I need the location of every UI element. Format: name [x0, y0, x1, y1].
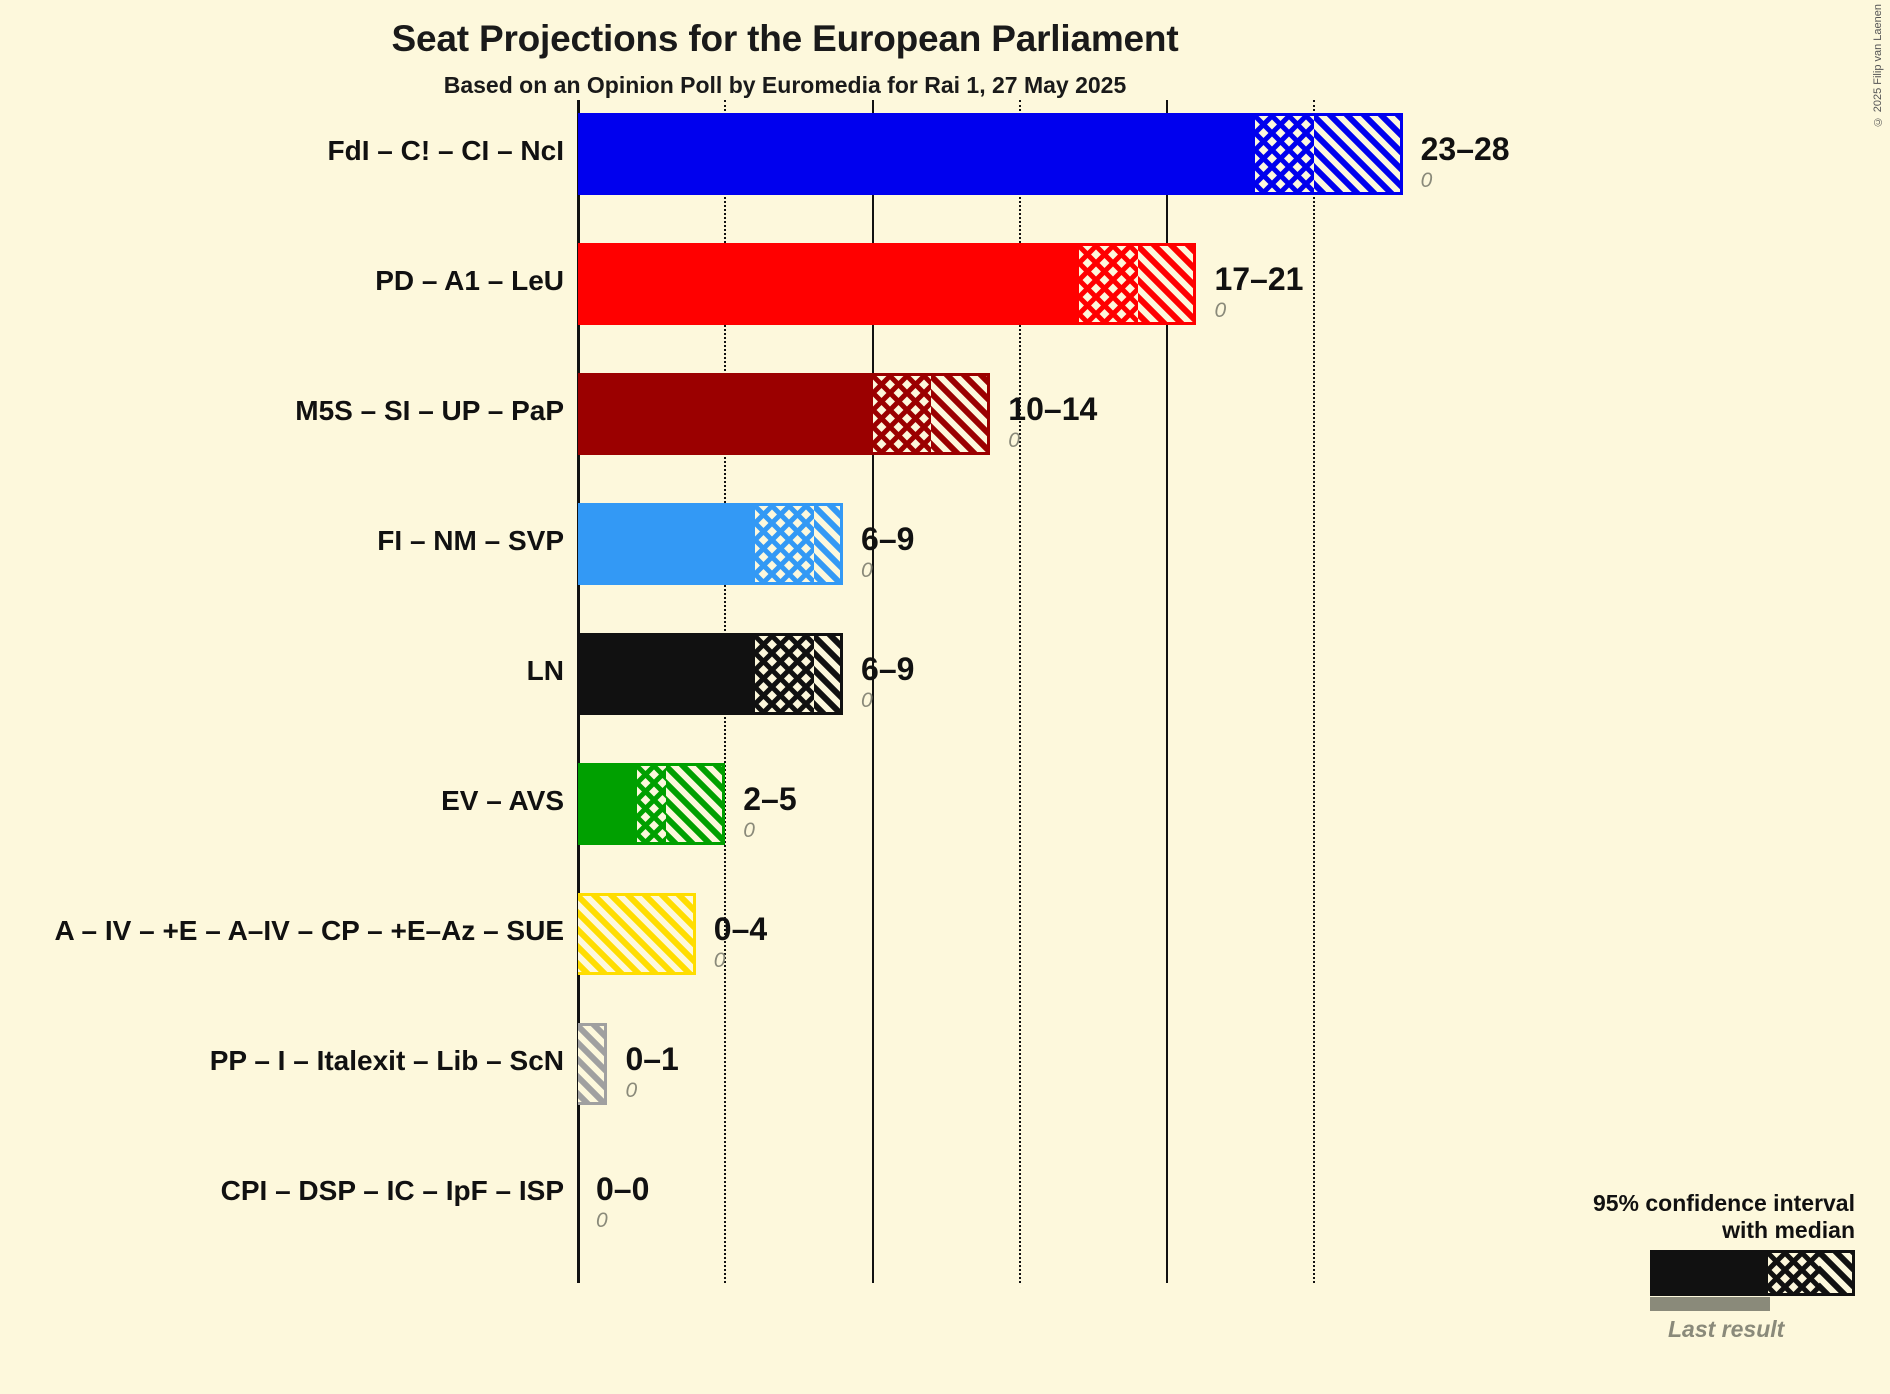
bar-value: 0–4 [714, 913, 767, 945]
bar-segment-median [637, 763, 666, 845]
gridline-25 [1313, 100, 1315, 1283]
bar-last-result: 0 [1421, 170, 1510, 191]
bar-value-group: 6–90 [861, 653, 914, 711]
bar-value-group: 0–00 [596, 1173, 649, 1231]
bar-last-result: 0 [1008, 430, 1097, 451]
bar-segment-median [755, 503, 814, 585]
bar-segment-lower [578, 633, 755, 715]
bar-label: FI – NM – SVP [377, 525, 564, 557]
bar [578, 113, 1403, 195]
bar [578, 763, 725, 845]
bar-segment-lower [578, 503, 755, 585]
bar-label: PP – I – Italexit – Lib – ScN [210, 1045, 564, 1077]
bar-value: 17–21 [1214, 263, 1303, 295]
bar-label: CPI – DSP – IC – IpF – ISP [221, 1175, 564, 1207]
bar-value: 0–0 [596, 1173, 649, 1205]
bar-value-group: 0–10 [625, 1043, 678, 1101]
bar-segment-upper [666, 763, 725, 845]
bar [578, 373, 990, 455]
chart-canvas: Seat Projections for the European Parlia… [0, 0, 1890, 1394]
bar-label: FdI – C! – CI – NcI [328, 135, 565, 167]
bar-value-group: 2–50 [743, 783, 796, 841]
bar-value: 6–9 [861, 523, 914, 555]
bar-last-result: 0 [596, 1210, 649, 1231]
bar-value-group: 0–40 [714, 913, 767, 971]
bar-last-result: 0 [861, 560, 914, 581]
bar-segment-upper [1138, 243, 1197, 325]
bar-label: M5S – SI – UP – PaP [295, 395, 564, 427]
bar-value-group: 10–140 [1008, 393, 1097, 451]
bar-last-result: 0 [714, 950, 767, 971]
bar-value-group: 17–210 [1214, 263, 1303, 321]
plot-area: FdI – C! – CI – NcI23–280PD – A1 – LeU17… [0, 0, 1890, 1394]
bar-label: PD – A1 – LeU [375, 265, 564, 297]
bar-last-result: 0 [743, 820, 796, 841]
bar-value: 10–14 [1008, 393, 1097, 425]
bar-value-group: 23–280 [1421, 133, 1510, 191]
bar [578, 243, 1196, 325]
bar-segment-lower [578, 373, 873, 455]
bar-segment-upper [814, 633, 843, 715]
bar-segment-median [873, 373, 932, 455]
bar-label: A – IV – +E – A–IV – CP – +E–Az – SUE [55, 915, 564, 947]
bar-label: LN [527, 655, 564, 687]
bar-segment-median [1255, 113, 1314, 195]
bar-segment-upper [1314, 113, 1402, 195]
bar-value: 2–5 [743, 783, 796, 815]
bar-value-group: 6–90 [861, 523, 914, 581]
bar-label: EV – AVS [441, 785, 564, 817]
bar-segment-upper [578, 893, 696, 975]
bar [578, 503, 843, 585]
bar-segment-upper [814, 503, 843, 585]
bar-segment-upper [931, 373, 990, 455]
bar-value: 23–28 [1421, 133, 1510, 165]
bar-segment-median [755, 633, 814, 715]
bar-segment-lower [578, 763, 637, 845]
bar-last-result: 0 [625, 1080, 678, 1101]
bar-last-result: 0 [861, 690, 914, 711]
bar-segment-median [1079, 243, 1138, 325]
bar [578, 893, 696, 975]
bar [578, 633, 843, 715]
bar-value: 6–9 [861, 653, 914, 685]
bar-segment-lower [578, 243, 1079, 325]
bar-value: 0–1 [625, 1043, 678, 1075]
bar [578, 1023, 607, 1105]
bar-segment-upper [578, 1023, 607, 1105]
bar-segment-lower [578, 113, 1255, 195]
bar-last-result: 0 [1214, 300, 1303, 321]
